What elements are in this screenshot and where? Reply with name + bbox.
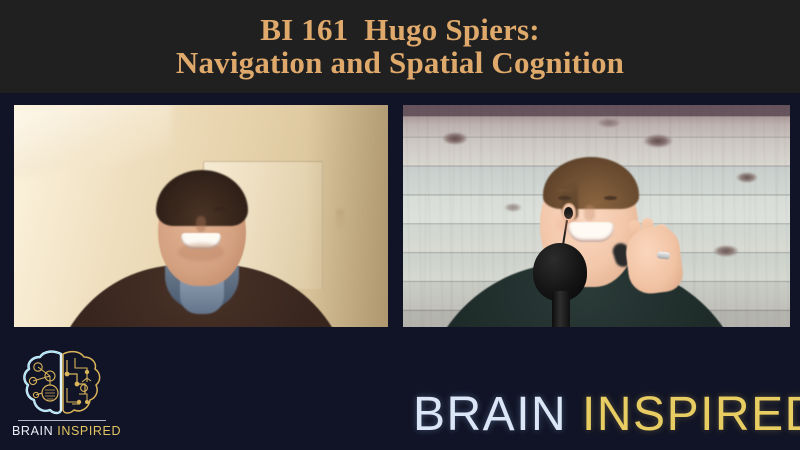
brain-circuit-icon bbox=[20, 348, 104, 418]
logo-wordmark: BRAIN INSPIRED bbox=[12, 424, 116, 438]
video-frame: BI 161 Hugo Spiers: Navigation and Spati… bbox=[0, 0, 800, 450]
wordmark-inspired: INSPIRED bbox=[582, 388, 800, 441]
host-ring bbox=[657, 251, 671, 259]
host-eye-right bbox=[604, 196, 617, 200]
guest-wall-shadow bbox=[306, 105, 388, 327]
brain-inspired-wordmark: BRAIN INSPIRED bbox=[413, 391, 800, 439]
logo-word-brain: BRAIN bbox=[12, 424, 53, 438]
wordmark-brain: BRAIN bbox=[413, 388, 567, 441]
host-video-panel[interactable] bbox=[403, 105, 790, 327]
logo-word-inspired: INSPIRED bbox=[57, 424, 121, 438]
brain-inspired-logo: BRAIN INSPIRED bbox=[8, 348, 116, 444]
episode-title-line-2: Navigation and Spatial Cognition bbox=[176, 47, 624, 79]
episode-title-bar: BI 161 Hugo Spiers: Navigation and Spati… bbox=[0, 0, 800, 93]
guest-nose bbox=[196, 216, 206, 232]
guest-chin bbox=[178, 243, 224, 261]
host-smile bbox=[568, 222, 614, 242]
microphone-stand bbox=[552, 291, 570, 327]
guest-video-panel[interactable] bbox=[14, 105, 388, 327]
host-nose bbox=[584, 205, 595, 221]
wordmark-space bbox=[567, 388, 582, 441]
episode-title-line-1: BI 161 Hugo Spiers: bbox=[260, 14, 540, 46]
logo-divider bbox=[18, 420, 106, 421]
